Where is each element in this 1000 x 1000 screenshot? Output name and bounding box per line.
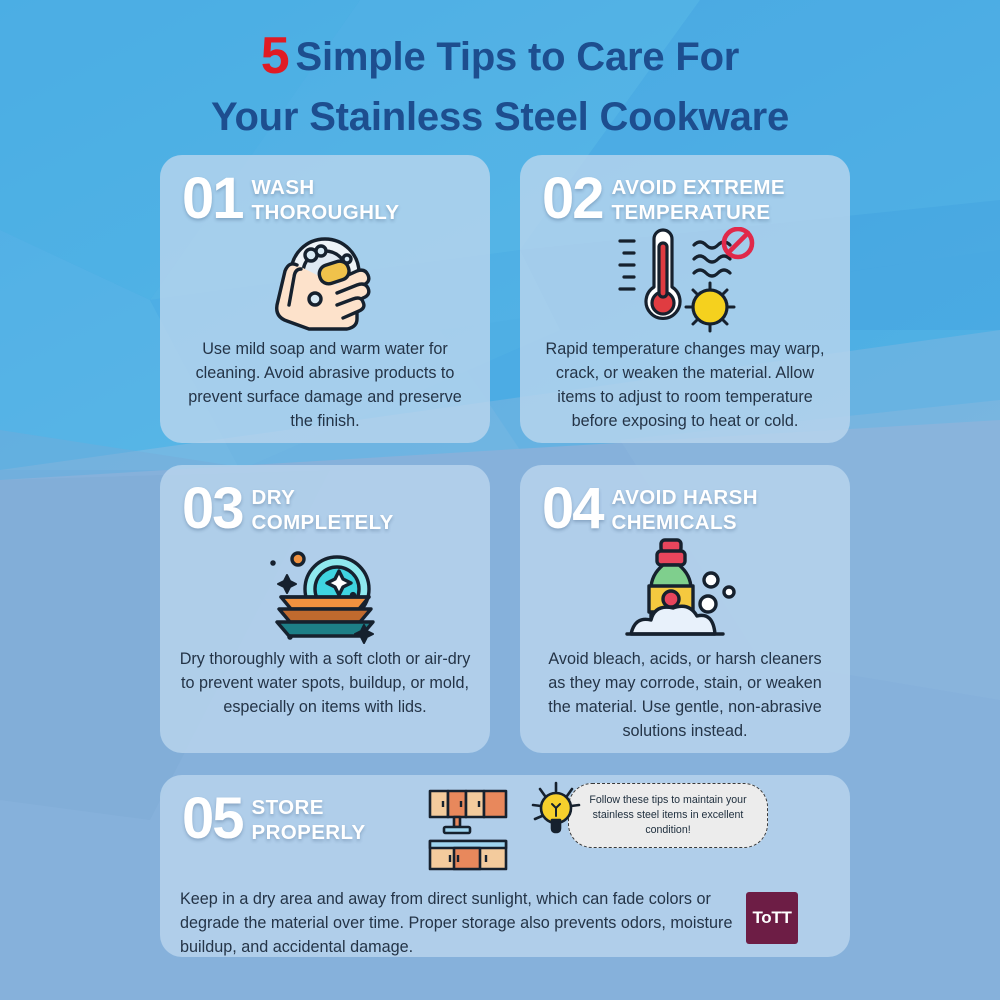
tip-card-04[interactable]: 04 AVOID HARSH CHEMICALS <box>520 465 850 753</box>
hands-washing-plate-icon <box>261 227 389 339</box>
tip-card-01-head: 01 WASH THOROUGHLY <box>160 155 490 226</box>
tip-title-01: WASH THOROUGHLY <box>252 175 400 225</box>
tip-title-05-line2: PROPERLY <box>252 820 366 845</box>
tip-title-04: AVOID HARSH CHEMICALS <box>612 485 758 535</box>
tip-title-03-line1: DRY <box>252 486 296 509</box>
tip-card-01[interactable]: 01 WASH THOROUGHLY <box>160 155 490 443</box>
tip-body-04: Avoid bleach, acids, or harsh cleaners a… <box>520 648 850 743</box>
tip-card-03[interactable]: 03 DRY COMPLETELY <box>160 465 490 753</box>
tips-row-2: 03 DRY COMPLETELY <box>160 465 850 753</box>
tip-body-02: Rapid temperature changes may warp, crac… <box>520 338 850 433</box>
tip-title-05-line1: STORE <box>252 796 324 819</box>
tip-icon-05-wrap <box>426 787 518 880</box>
title-number-5: 5 <box>261 27 290 85</box>
tip-card-05-head: 05 STORE PROPERLY <box>160 775 422 846</box>
tip-number-03: 03 <box>182 481 243 536</box>
tip-title-04-line1: AVOID HARSH <box>612 486 758 509</box>
page-title-line-1: 5Simple Tips to Care For <box>0 22 1000 91</box>
tip-body-01: Use mild soap and warm water for cleanin… <box>160 338 490 433</box>
tip-icon-04-wrap <box>520 538 850 648</box>
tip-card-05-top: 05 STORE PROPERLY <box>160 775 850 880</box>
cleaning-bottle-foam-icon <box>619 536 751 651</box>
tip-title-04-line2: CHEMICALS <box>612 510 758 535</box>
tip-icon-02-wrap <box>520 228 850 338</box>
tip-card-02-head: 02 AVOID EXTREME TEMPERATURE <box>520 155 850 226</box>
page-title-text-1: Simple Tips to Care For <box>296 35 740 79</box>
thermometer-sun-prohibited-icon <box>610 227 760 339</box>
tip-card-04-head: 04 AVOID HARSH CHEMICALS <box>520 465 850 536</box>
tip-number-04: 04 <box>542 481 603 536</box>
tip-title-02-line1: AVOID EXTREME <box>612 176 785 199</box>
lightbulb-icon <box>530 781 588 841</box>
tip-title-02: AVOID EXTREME TEMPERATURE <box>612 175 785 225</box>
tip-number-01: 01 <box>182 171 243 226</box>
tip-title-03-line2: COMPLETELY <box>252 510 394 535</box>
tip-card-05-bottom: Keep in a dry area and away from direct … <box>160 880 850 959</box>
tip-title-01-line2: THOROUGHLY <box>252 200 400 225</box>
tip-callout-text: Follow these tips to maintain your stain… <box>568 783 768 848</box>
storage-cabinets-icon <box>426 787 518 875</box>
tip-title-02-line2: TEMPERATURE <box>612 200 785 225</box>
page-title-line-2: Your Stainless Steel Cookware <box>0 91 1000 144</box>
tip-card-02[interactable]: 02 AVOID EXTREME TEMPERATURE <box>520 155 850 443</box>
page-header: 5Simple Tips to Care For Your Stainless … <box>0 0 1000 143</box>
tott-logo: ToTT <box>746 892 798 944</box>
tip-title-05: STORE PROPERLY <box>252 795 366 845</box>
tips-row-1: 01 WASH THOROUGHLY <box>160 155 850 443</box>
tip-icon-03-wrap <box>160 538 490 648</box>
tip-body-05: Keep in a dry area and away from direct … <box>180 888 740 959</box>
tip-number-05: 05 <box>182 791 243 846</box>
tips-row-3: 05 STORE PROPERLY <box>160 775 850 957</box>
tips-grid: 01 WASH THOROUGHLY <box>160 155 850 979</box>
tip-body-03: Dry thoroughly with a soft cloth or air-… <box>160 648 490 719</box>
tip-icon-01-wrap <box>160 228 490 338</box>
tip-callout: Follow these tips to maintain your stain… <box>534 783 768 848</box>
tip-title-01-line1: WASH <box>252 176 315 199</box>
tip-card-03-head: 03 DRY COMPLETELY <box>160 465 490 536</box>
tip-title-03: DRY COMPLETELY <box>252 485 394 535</box>
tip-number-02: 02 <box>542 171 603 226</box>
stacked-clean-plates-icon <box>257 537 393 649</box>
tip-card-05[interactable]: 05 STORE PROPERLY <box>160 775 850 957</box>
